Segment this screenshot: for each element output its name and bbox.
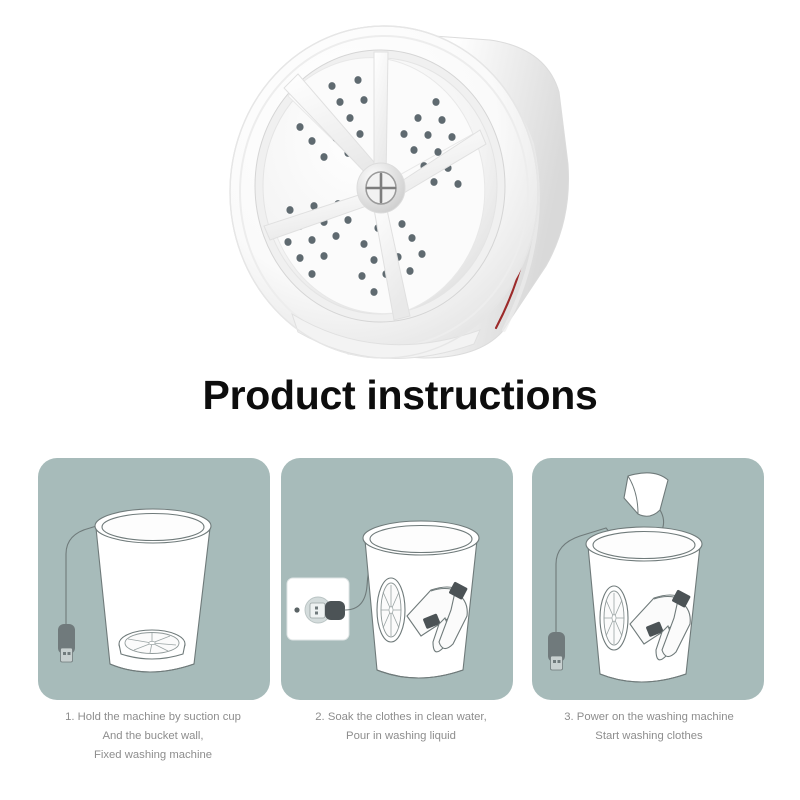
washer-on-bucket-wall <box>600 586 628 650</box>
caption-line: 2. Soak the clothes in clean water, <box>270 708 532 727</box>
caption-line: Start washing clothes <box>518 727 780 746</box>
caption-line: 3. Power on the washing machine <box>518 708 780 727</box>
instruction-panel-3 <box>532 458 764 700</box>
product-hero-image <box>0 0 800 370</box>
step-2-illustration <box>281 458 513 700</box>
instruction-panel-1 <box>38 458 270 700</box>
caption-step-1: 1. Hold the machine by suction cup And t… <box>22 708 284 765</box>
caption-step-2: 2. Soak the clothes in clean water, Pour… <box>270 708 532 746</box>
center-hub-screw <box>357 163 405 213</box>
step-1-illustration <box>38 458 270 700</box>
step-3-illustration <box>532 458 764 700</box>
bucket-rim-inner <box>593 532 695 559</box>
usb-plug-icon <box>548 632 565 670</box>
caption-line: And the bucket wall, <box>22 727 284 746</box>
usb-plug-icon <box>58 624 75 662</box>
instruction-panel-2 <box>281 458 513 700</box>
page-title: Product instructions <box>0 372 800 419</box>
washer-disc-at-bottom <box>119 630 185 659</box>
washing-machine-illustration <box>228 14 588 364</box>
panel-captions: 1. Hold the machine by suction cup And t… <box>0 708 800 788</box>
bucket-rim-inner <box>370 526 472 553</box>
usb-adapter <box>325 601 345 620</box>
bucket-rim-inner <box>102 514 204 541</box>
wall-outlet <box>287 578 349 640</box>
caption-line: Pour in washing liquid <box>270 727 532 746</box>
pour-stream <box>660 510 664 530</box>
caption-line: Fixed washing machine <box>22 746 284 765</box>
instruction-panels <box>0 455 800 705</box>
outlet-indicator-dot <box>294 607 299 612</box>
washer-on-bucket-wall <box>377 578 405 642</box>
caption-step-3: 3. Power on the washing machine Start wa… <box>518 708 780 746</box>
product-photo <box>228 14 588 364</box>
caption-line: 1. Hold the machine by suction cup <box>22 708 284 727</box>
